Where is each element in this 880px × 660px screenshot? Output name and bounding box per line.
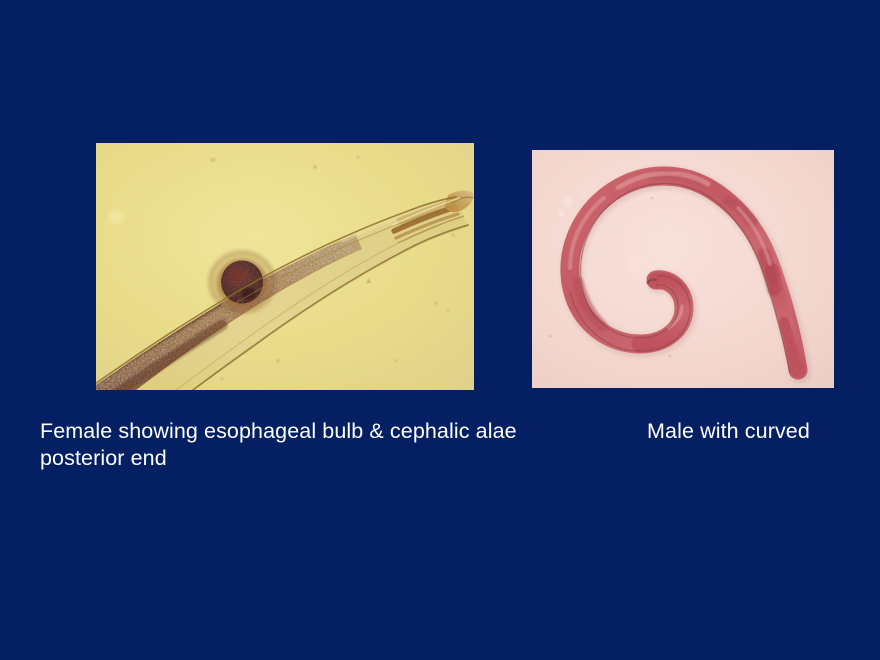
caption-male-pinworm: Male with curved <box>647 418 877 445</box>
caption-female-pinworm: Female showing esophageal bulb & cephali… <box>40 418 600 472</box>
female-pinworm-illustration <box>96 143 474 390</box>
male-pinworm-micrograph <box>532 150 834 388</box>
female-pinworm-micrograph <box>96 143 474 390</box>
male-pinworm-illustration <box>532 150 834 388</box>
slide-canvas: Female showing esophageal bulb & cephali… <box>0 0 880 660</box>
